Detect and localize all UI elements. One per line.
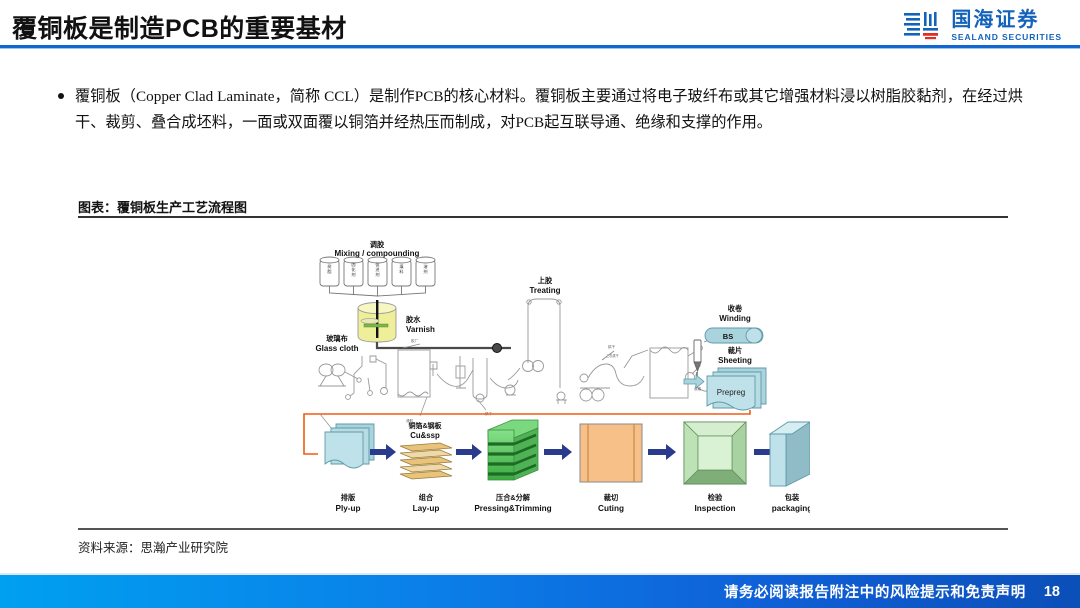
materials-label-cn: 铜箔&钢板 [408, 421, 442, 430]
page-title: 覆铜板是制造PCB的重要基材 [12, 9, 347, 45]
treating-label-cn: 上胶 [538, 276, 553, 285]
flow-arrow-4 [648, 444, 676, 460]
figure-bottom-rule [78, 528, 1008, 530]
prepreg-label: Prepreg [717, 388, 745, 397]
step-label-en-1: Lay-up [413, 504, 440, 513]
step-label-en-2: Pressing&Trimming [474, 504, 551, 513]
process-flow-diagram: 调胶 Mixing / compounding 树脂 固化剂 促进剂 填料 溶剂… [280, 238, 810, 530]
materials-label-en: Cu&ssp [410, 431, 440, 440]
logo-name-cn: 国海证券 [951, 10, 1062, 30]
sheeting-label-cn: 裁片 [728, 346, 742, 355]
pipe-annotation: 胶厂 [411, 338, 419, 343]
step-label-cn-2: 压合&分解 [496, 493, 531, 502]
step-shape-lay-up [400, 443, 452, 479]
step-shape-packaging [770, 422, 810, 486]
footer-disclaimer: 请务必阅读报告附注中的风险提示和免责声明 [724, 581, 1026, 602]
varnish-label-en: Varnish [406, 325, 435, 334]
prepreg-sheet-stack: Prepreg [707, 368, 766, 410]
step-label-en-0: Ply-up [335, 504, 360, 513]
logo-text-group: 国海证券 SEALAND SECURITIES [951, 10, 1062, 42]
company-logo: 国海证券 SEALAND SECURITIES [903, 8, 1062, 44]
logo-name-en: SEALAND SECURITIES [951, 33, 1062, 42]
treater-annotation-2: 二次烘干 [606, 353, 620, 358]
step-shape-inspection [684, 422, 746, 484]
sheeting-label-en: Sheeting [718, 356, 752, 365]
figure-top-rule [78, 216, 1008, 218]
varnish-label-cn: 胶水 [406, 315, 421, 324]
glass-cloth-roll [318, 364, 361, 386]
step-label-cn-5: 包装 [785, 493, 800, 502]
varnish-feed-pipe [377, 342, 511, 348]
mixing-label-en: Mixing / compounding [335, 249, 420, 258]
bullet-paragraph: 覆铜板（Copper Clad Laminate，简称 CCL）是制作PCB的核… [75, 84, 1023, 136]
page-footer: 请务必阅读报告附注中的风险提示和免责声明 18 [0, 575, 1080, 608]
bullet-dot-icon [58, 93, 64, 99]
figure-caption: 图表：覆铜板生产工艺流程图 [78, 197, 247, 216]
content-bullet-list: 覆铜板（Copper Clad Laminate，简称 CCL）是制作PCB的核… [58, 84, 1023, 136]
figure-source: 资料来源：思瀚产业研究院 [78, 537, 228, 556]
header-divider-light [0, 48, 1080, 49]
step-label-cn-4: 检验 [708, 493, 723, 502]
page-number: 18 [1044, 584, 1060, 600]
varnish-vessel [358, 300, 396, 342]
treating-label-en: Treating [529, 286, 560, 295]
glass-cloth-label-en: Glass cloth [315, 344, 358, 353]
impregnation-machine [346, 350, 518, 402]
step-label-en-4: Inspection [695, 504, 736, 513]
second-treater [580, 346, 713, 401]
step-shape-pressing [488, 420, 538, 480]
tank-label-0: 树脂 [327, 263, 331, 275]
flow-arrow-3 [544, 444, 572, 460]
winding-roll: BS [705, 328, 763, 343]
flow-arrow-2 [456, 444, 482, 460]
step-label-en-3: Cuting [598, 504, 624, 513]
step-label-en-5: packaging [772, 504, 810, 513]
winding-roll-label: BS [723, 332, 733, 341]
step-label-cn-1: 组合 [419, 493, 434, 502]
pipe-valve-icon [493, 344, 502, 353]
step-label-cn-0: 排版 [341, 493, 356, 502]
treater-annotation-1: 烘干 [608, 344, 616, 349]
treating-tower [508, 299, 567, 404]
list-item: 覆铜板（Copper Clad Laminate，简称 CCL）是制作PCB的核… [58, 84, 1023, 136]
step-shape-cuting [580, 424, 642, 482]
mixing-label-cn: 调胶 [370, 240, 385, 249]
page-header: 覆铜板是制造PCB的重要基材 [0, 0, 1080, 52]
sealand-logo-mark-icon [903, 9, 943, 43]
glass-cloth-label-cn: 玻璃布 [326, 334, 348, 343]
winding-label-cn: 收卷 [728, 304, 743, 313]
step-shape-ply-up [325, 424, 374, 468]
step-label-cn-3: 裁切 [604, 493, 618, 502]
winding-label-en: Winding [719, 314, 751, 323]
